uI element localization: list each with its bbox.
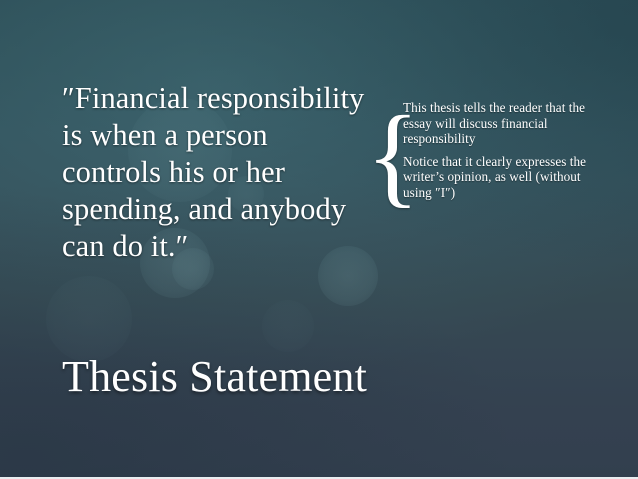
annotation-block: This thesis tells the reader that the es… xyxy=(403,100,593,201)
quote-text: ″Financial responsibility is when a pers… xyxy=(62,80,368,265)
curly-brace-icon: { xyxy=(366,100,400,212)
annotation-item: This thesis tells the reader that the es… xyxy=(403,100,593,147)
slide-canvas: ″Financial responsibility is when a pers… xyxy=(0,0,638,479)
bokeh-orb xyxy=(262,300,314,352)
annotation-item: Notice that it clearly expresses the wri… xyxy=(403,154,593,201)
bokeh-orb xyxy=(46,276,132,362)
page-title: Thesis Statement xyxy=(62,352,367,402)
